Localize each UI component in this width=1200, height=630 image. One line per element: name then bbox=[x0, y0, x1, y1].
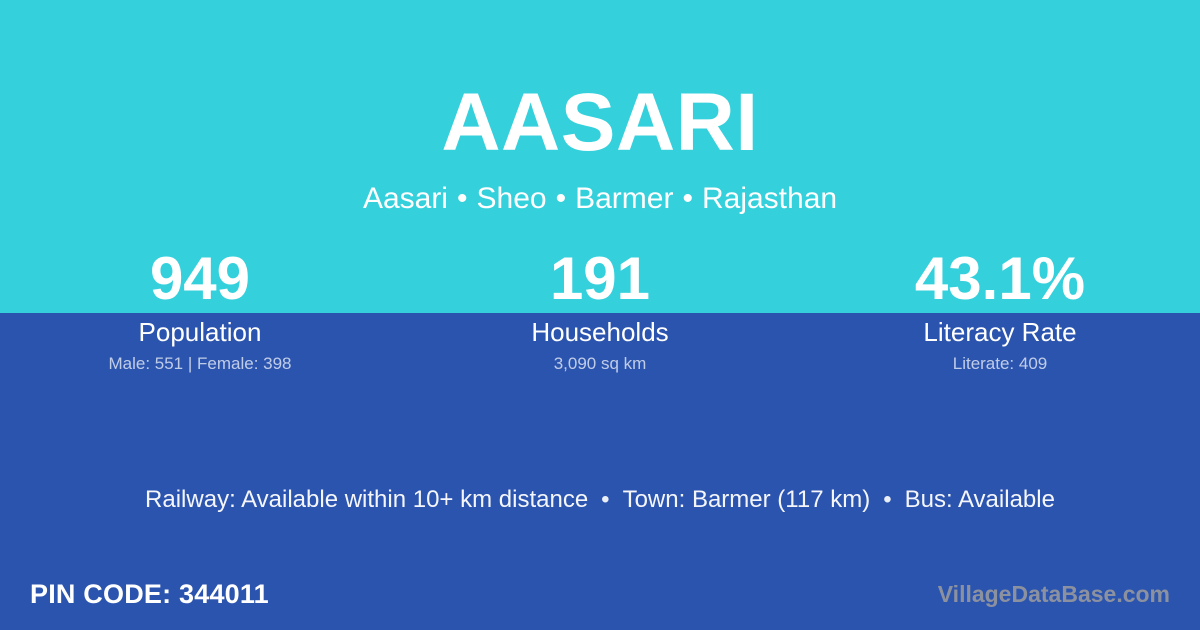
stat-sublabel: 3,090 sq km bbox=[400, 354, 800, 374]
page-title: AASARI bbox=[0, 82, 1200, 164]
breadcrumb-separator-2: • bbox=[547, 182, 576, 215]
breadcrumb-village: Aasari bbox=[363, 182, 448, 215]
stat-label: Literacy Rate bbox=[800, 317, 1200, 347]
stat-value: 191 bbox=[400, 246, 800, 312]
stat-label: Households bbox=[400, 317, 800, 347]
stats-row: 949 Population Male: 551 | Female: 398 1… bbox=[0, 246, 1200, 374]
stat-value: 43.1% bbox=[800, 246, 1200, 312]
amenity-separator-2: • bbox=[870, 486, 904, 513]
amenity-railway: Railway: Available within 10+ km distanc… bbox=[145, 486, 588, 513]
stat-value: 949 bbox=[0, 246, 400, 312]
breadcrumb-district: Barmer bbox=[575, 182, 673, 215]
breadcrumb-separator-3: • bbox=[673, 182, 702, 215]
stat-sublabel: Literate: 409 bbox=[800, 354, 1200, 374]
amenity-bus: Bus: Available bbox=[905, 486, 1055, 513]
amenity-town: Town: Barmer (117 km) bbox=[623, 486, 871, 513]
village-info-card: AASARI Aasari•Sheo•Barmer•Rajasthan 949 … bbox=[0, 0, 1200, 630]
breadcrumb-block: Sheo bbox=[477, 182, 547, 215]
amenity-separator-1: • bbox=[588, 486, 622, 513]
breadcrumb: Aasari•Sheo•Barmer•Rajasthan bbox=[0, 182, 1200, 217]
pin-code: PIN CODE: 344011 bbox=[30, 579, 269, 609]
stat-literacy-rate: 43.1% Literacy Rate Literate: 409 bbox=[800, 246, 1200, 374]
breadcrumb-state: Rajasthan bbox=[702, 182, 837, 215]
stat-label: Population bbox=[0, 317, 400, 347]
footer-bar: PIN CODE: 344011 VillageDataBase.com bbox=[0, 558, 1200, 630]
site-brand: VillageDataBase.com bbox=[938, 581, 1170, 607]
stat-population: 949 Population Male: 551 | Female: 398 bbox=[0, 246, 400, 374]
stat-households: 191 Households 3,090 sq km bbox=[400, 246, 800, 374]
amenities-row: Railway: Available within 10+ km distanc… bbox=[0, 485, 1200, 515]
stat-sublabel: Male: 551 | Female: 398 bbox=[0, 354, 400, 374]
breadcrumb-separator-1: • bbox=[448, 182, 477, 215]
